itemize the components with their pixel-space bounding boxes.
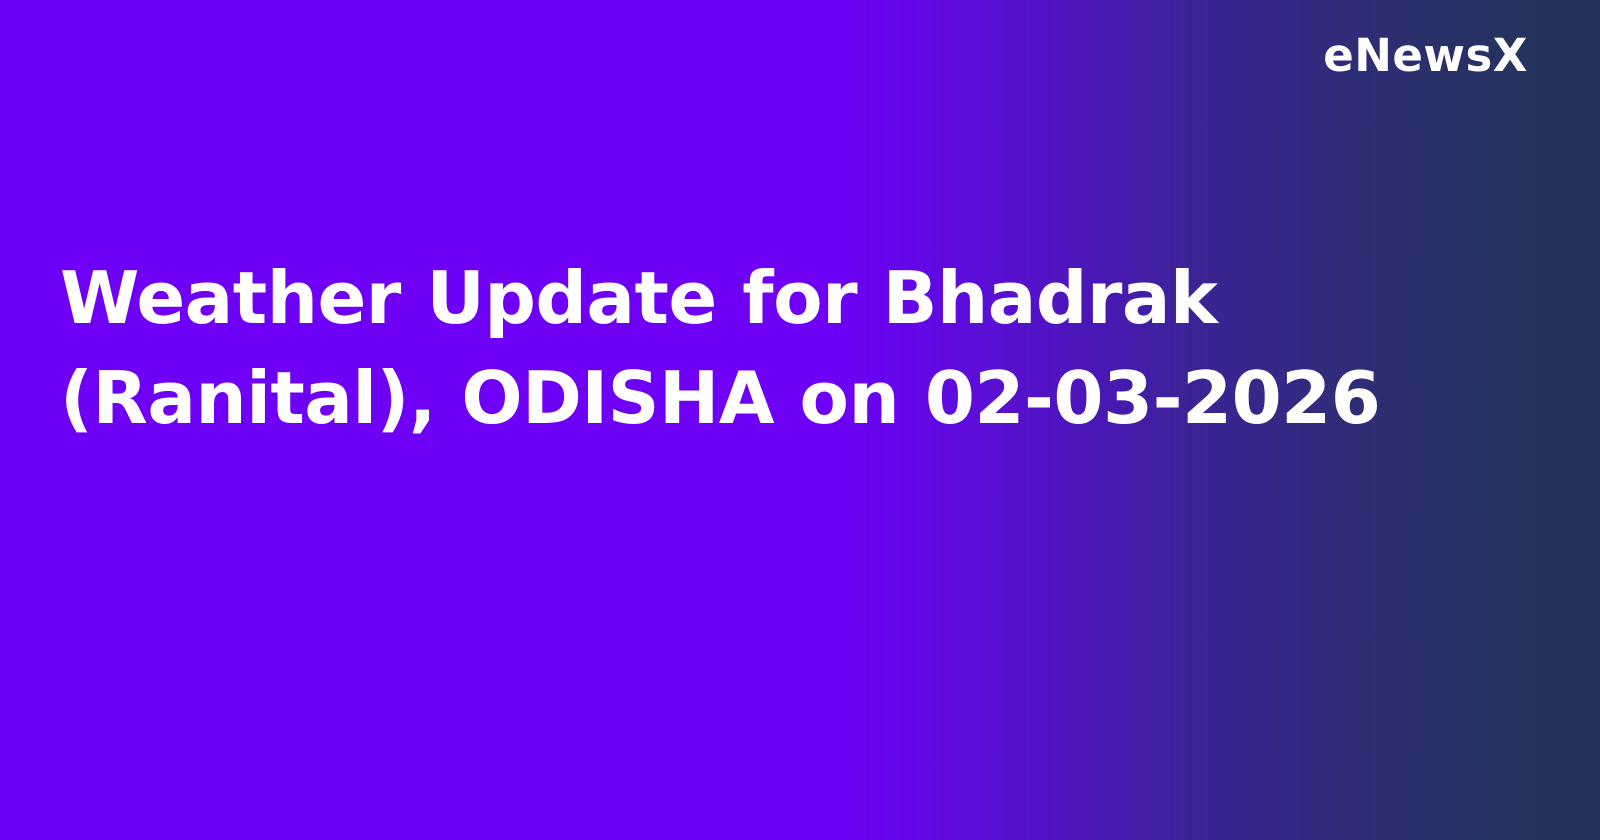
brand-logo[interactable]: eNewsX (1323, 33, 1528, 78)
news-banner: eNewsX Weather Update for Bhadrak (Ranit… (0, 0, 1600, 840)
page-title: Weather Update for Bhadrak (Ranital), OD… (60, 248, 1460, 448)
headline-block: Weather Update for Bhadrak (Ranital), OD… (60, 248, 1460, 448)
